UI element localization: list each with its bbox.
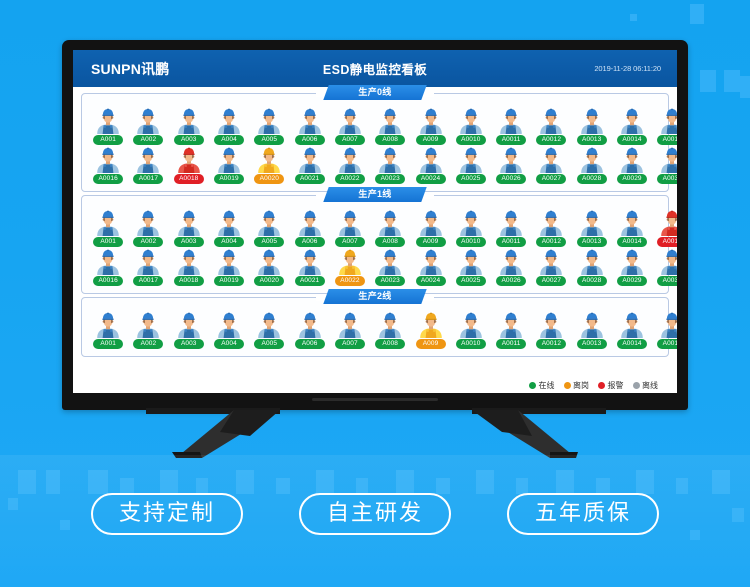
- worker-avatar-icon: [134, 147, 162, 173]
- worker-station[interactable]: A0027: [531, 249, 571, 286]
- worker-status-badge[interactable]: A009: [416, 237, 446, 247]
- pixel-square: [712, 470, 730, 494]
- production-line-box: 生产0线 A001 A002: [81, 93, 669, 192]
- feature-pills: 支持定制自主研发五年质保: [0, 493, 750, 535]
- worker-station[interactable]: A004: [209, 108, 249, 145]
- worker-status-badge[interactable]: A008: [375, 237, 405, 247]
- worker-station[interactable]: A004: [209, 210, 249, 247]
- worker-station[interactable]: A005: [249, 108, 289, 145]
- worker-status-badge[interactable]: A003: [174, 135, 204, 145]
- worker-avatar-icon: [457, 108, 485, 134]
- worker-station[interactable]: A0029: [612, 249, 652, 286]
- worker-avatar-icon: [134, 108, 162, 134]
- worker-station[interactable]: A0025: [451, 249, 491, 286]
- pixel-square: [516, 478, 528, 494]
- worker-status-badge[interactable]: A003: [174, 237, 204, 247]
- worker-status-badge[interactable]: A0028: [577, 276, 607, 286]
- worker-station[interactable]: A002: [128, 210, 168, 247]
- worker-avatar-icon: [658, 249, 677, 275]
- pixel-square: [636, 470, 654, 494]
- pixel-square: [236, 470, 254, 494]
- worker-station[interactable]: A0014: [612, 312, 652, 349]
- worker-avatar-icon: [255, 312, 283, 338]
- tv-leg-right: [470, 408, 610, 460]
- worker-avatar-icon: [296, 210, 324, 236]
- worker-avatar-icon: [94, 210, 122, 236]
- worker-avatar-icon: [255, 249, 283, 275]
- worker-status-badge[interactable]: A0018: [174, 174, 204, 184]
- worker-avatar-icon: [94, 312, 122, 338]
- worker-avatar-icon: [537, 108, 565, 134]
- worker-avatar-icon: [134, 210, 162, 236]
- worker-avatar-icon: [618, 249, 646, 275]
- worker-avatar-icon: [376, 312, 404, 338]
- worker-station[interactable]: A0016: [88, 147, 128, 184]
- timestamp: 2019-11-28 06:11:20: [594, 64, 677, 73]
- worker-station[interactable]: A006: [289, 312, 329, 349]
- worker-station[interactable]: A003: [169, 108, 209, 145]
- worker-avatar-icon: [537, 312, 565, 338]
- worker-status-badge[interactable]: A0019: [214, 174, 244, 184]
- production-line-panel: 生产0线 A001 A002: [81, 93, 669, 192]
- worker-avatar-icon: [94, 108, 122, 134]
- worker-row: A001 A002 A003: [86, 210, 664, 247]
- status-legend: 在线离岗报警离线: [526, 379, 661, 392]
- worker-status-badge[interactable]: A0011: [496, 339, 526, 349]
- worker-station[interactable]: A0013: [572, 210, 612, 247]
- worker-avatar-icon: [134, 312, 162, 338]
- worker-station[interactable]: A0010: [451, 312, 491, 349]
- worker-station[interactable]: A0011: [491, 210, 531, 247]
- worker-status-badge[interactable]: A009: [416, 339, 446, 349]
- worker-station[interactable]: A003: [169, 210, 209, 247]
- worker-avatar-icon: [94, 249, 122, 275]
- worker-avatar-icon: [497, 108, 525, 134]
- worker-avatar-icon: [497, 249, 525, 275]
- worker-status-badge[interactable]: A0015: [657, 237, 677, 247]
- worker-status-badge[interactable]: A007: [335, 237, 365, 247]
- production-line-tag: 生产2线: [323, 289, 426, 304]
- worker-avatar-icon: [618, 312, 646, 338]
- worker-station[interactable]: A005: [249, 312, 289, 349]
- worker-status-badge[interactable]: A005: [254, 237, 284, 247]
- pixel-square: [316, 470, 334, 494]
- worker-status-badge[interactable]: A001: [93, 237, 123, 247]
- worker-status-badge[interactable]: A0016: [93, 174, 123, 184]
- pixel-square: [556, 470, 574, 494]
- worker-avatar-icon: [578, 249, 606, 275]
- worker-status-badge[interactable]: A006: [295, 135, 325, 145]
- production-line-box: 生产1线 A001 A002: [81, 195, 669, 294]
- worker-avatar-icon: [336, 249, 364, 275]
- worker-station[interactable]: A0013: [572, 108, 612, 145]
- worker-avatar-icon: [215, 210, 243, 236]
- production-line-name: 生产1线: [326, 187, 424, 202]
- worker-status-badge[interactable]: A0010: [456, 135, 486, 145]
- pixel-square: [120, 478, 134, 494]
- worker-status-badge[interactable]: A005: [254, 339, 284, 349]
- worker-status-badge[interactable]: A0010: [456, 237, 486, 247]
- pixel-square: [396, 470, 414, 494]
- worker-status-badge[interactable]: A001: [93, 135, 123, 145]
- worker-avatar-icon: [618, 147, 646, 173]
- worker-status-badge[interactable]: A002: [133, 135, 163, 145]
- production-lines-container: 生产0线 A001 A002: [81, 93, 669, 357]
- worker-status-badge[interactable]: A0017: [133, 174, 163, 184]
- worker-status-badge[interactable]: A009: [416, 135, 446, 145]
- worker-status-badge[interactable]: A0016: [93, 276, 123, 286]
- worker-station[interactable]: A0023: [370, 249, 410, 286]
- worker-status-badge[interactable]: A0014: [617, 339, 647, 349]
- worker-row: A0016 A0017 A0018: [86, 249, 664, 286]
- worker-avatar-icon: [457, 312, 485, 338]
- production-line-box: 生产2线 A001 A002: [81, 297, 669, 357]
- worker-station[interactable]: A0024: [410, 147, 450, 184]
- worker-station[interactable]: A0018: [169, 147, 209, 184]
- worker-station[interactable]: A006: [289, 210, 329, 247]
- worker-station[interactable]: A008: [370, 210, 410, 247]
- pixel-square: [46, 470, 60, 494]
- worker-avatar-icon: [417, 108, 445, 134]
- worker-status-badge[interactable]: A002: [133, 339, 163, 349]
- worker-station[interactable]: A009: [410, 210, 450, 247]
- worker-status-badge[interactable]: A0022: [335, 276, 365, 286]
- worker-station[interactable]: A0026: [491, 249, 531, 286]
- worker-row: A001 A002 A003: [86, 312, 664, 349]
- worker-status-badge[interactable]: A0011: [496, 135, 526, 145]
- worker-avatar-icon: [175, 108, 203, 134]
- worker-status-badge[interactable]: A0014: [617, 237, 647, 247]
- worker-status-badge[interactable]: A0029: [617, 276, 647, 286]
- worker-status-badge[interactable]: A0023: [375, 174, 405, 184]
- worker-station[interactable]: A0024: [410, 249, 450, 286]
- worker-avatar-icon: [215, 249, 243, 275]
- worker-status-badge[interactable]: A0015: [657, 339, 677, 349]
- worker-avatar-icon: [658, 108, 677, 134]
- worker-row: A001 A002 A003: [86, 108, 664, 145]
- worker-avatar-icon: [658, 210, 677, 236]
- pixel-square: [676, 478, 688, 494]
- worker-station[interactable]: A0020: [249, 147, 289, 184]
- worker-station[interactable]: A003: [169, 312, 209, 349]
- worker-station[interactable]: A0011: [491, 108, 531, 145]
- worker-station[interactable]: A0019: [209, 147, 249, 184]
- worker-station[interactable]: A006: [289, 108, 329, 145]
- worker-avatar-icon: [255, 210, 283, 236]
- worker-avatar-icon: [417, 147, 445, 173]
- worker-status-badge[interactable]: A007: [335, 339, 365, 349]
- worker-avatar-icon: [417, 249, 445, 275]
- feature-pill[interactable]: 自主研发: [299, 493, 451, 535]
- worker-avatar-icon: [296, 249, 324, 275]
- production-line-panel: 生产2线 A001 A002: [81, 297, 669, 357]
- worker-status-badge[interactable]: A0028: [577, 174, 607, 184]
- worker-station[interactable]: A0014: [612, 210, 652, 247]
- worker-status-badge[interactable]: A0022: [335, 174, 365, 184]
- dashboard-header: SUNPN讯鹏 ESD静电监控看板 2019-11-28 06:11:20: [73, 50, 677, 87]
- worker-avatar-icon: [376, 210, 404, 236]
- worker-avatar-icon: [255, 108, 283, 134]
- worker-status-badge[interactable]: A0013: [577, 237, 607, 247]
- worker-station[interactable]: A0010: [451, 108, 491, 145]
- worker-station[interactable]: A009: [410, 312, 450, 349]
- worker-status-badge[interactable]: A0010: [456, 339, 486, 349]
- worker-status-badge[interactable]: A0027: [536, 276, 566, 286]
- worker-station[interactable]: A0020: [249, 249, 289, 286]
- worker-status-badge[interactable]: A0026: [496, 276, 526, 286]
- pixel-square: [690, 4, 704, 24]
- worker-status-badge[interactable]: A002: [133, 237, 163, 247]
- legend-label: 离岗: [573, 380, 589, 391]
- worker-station[interactable]: A0027: [531, 147, 571, 184]
- worker-avatar-icon: [537, 249, 565, 275]
- worker-status-badge[interactable]: A008: [375, 339, 405, 349]
- worker-station[interactable]: A001: [88, 108, 128, 145]
- tv-brand-strip: [312, 398, 437, 401]
- legend-label: 离线: [642, 380, 658, 391]
- worker-avatar-icon: [537, 210, 565, 236]
- worker-avatar-icon: [537, 147, 565, 173]
- worker-station[interactable]: A0018: [169, 249, 209, 286]
- worker-avatar-icon: [215, 108, 243, 134]
- worker-status-badge[interactable]: A001: [93, 339, 123, 349]
- worker-station[interactable]: A0021: [289, 147, 329, 184]
- esd-dashboard: SUNPN讯鹏 ESD静电监控看板 2019-11-28 06:11:20 SU…: [73, 50, 677, 393]
- worker-station[interactable]: A0014: [612, 108, 652, 145]
- worker-avatar-icon: [215, 312, 243, 338]
- worker-avatar-icon: [457, 147, 485, 173]
- worker-avatar-icon: [336, 312, 364, 338]
- production-line-tag: 生产0线: [323, 85, 426, 100]
- worker-avatar-icon: [497, 312, 525, 338]
- worker-avatar-icon: [255, 147, 283, 173]
- worker-station[interactable]: A001: [88, 210, 128, 247]
- worker-avatar-icon: [457, 210, 485, 236]
- worker-station[interactable]: A0022: [330, 147, 370, 184]
- worker-status-badge[interactable]: A007: [335, 135, 365, 145]
- worker-avatar-icon: [296, 312, 324, 338]
- worker-status-badge[interactable]: A0024: [416, 276, 446, 286]
- worker-status-badge[interactable]: A005: [254, 135, 284, 145]
- worker-station[interactable]: A004: [209, 312, 249, 349]
- worker-station[interactable]: A0010: [451, 210, 491, 247]
- worker-station[interactable]: A007: [330, 210, 370, 247]
- worker-row: A0016 A0017 A0018: [86, 147, 664, 184]
- pixel-square: [630, 14, 637, 21]
- worker-status-badge[interactable]: A0023: [375, 276, 405, 286]
- worker-station[interactable]: A0028: [572, 249, 612, 286]
- worker-avatar-icon: [658, 147, 677, 173]
- pixel-square: [740, 76, 750, 98]
- worker-station[interactable]: A0030: [652, 147, 677, 184]
- pixel-square: [18, 470, 36, 494]
- pixel-square: [700, 70, 716, 92]
- worker-station[interactable]: A001: [88, 312, 128, 349]
- worker-avatar-icon: [336, 147, 364, 173]
- production-line-panel: 生产1线 A001 A002: [81, 195, 669, 294]
- page-title: ESD静电监控看板: [73, 59, 677, 78]
- worker-avatar-icon: [134, 249, 162, 275]
- worker-status-badge[interactable]: A0030: [657, 174, 677, 184]
- worker-status-badge[interactable]: A0021: [295, 174, 325, 184]
- worker-status-badge[interactable]: A0012: [536, 339, 566, 349]
- worker-station[interactable]: A0012: [531, 312, 571, 349]
- worker-station[interactable]: A005: [249, 210, 289, 247]
- worker-status-badge[interactable]: A0014: [617, 135, 647, 145]
- worker-avatar-icon: [376, 108, 404, 134]
- worker-station[interactable]: A0015: [652, 108, 677, 145]
- worker-status-badge[interactable]: A004: [214, 339, 244, 349]
- pixel-square: [88, 470, 108, 494]
- tv-leg-left: [142, 408, 282, 460]
- pixel-square: [596, 478, 610, 494]
- worker-station[interactable]: A0012: [531, 210, 571, 247]
- worker-status-badge[interactable]: A0020: [254, 174, 284, 184]
- feature-pill[interactable]: 支持定制: [91, 493, 243, 535]
- dashboard-body: SUNPN讯鹏 生产0线 A001 A002: [73, 87, 677, 393]
- production-line-tag: 生产1线: [323, 187, 426, 202]
- worker-station[interactable]: A0017: [128, 147, 168, 184]
- worker-status-badge[interactable]: A0019: [214, 276, 244, 286]
- legend-label: 报警: [608, 380, 624, 391]
- worker-station[interactable]: A0021: [289, 249, 329, 286]
- worker-status-badge[interactable]: A0015: [657, 135, 677, 145]
- worker-station[interactable]: A0015: [652, 210, 677, 247]
- worker-status-badge[interactable]: A0029: [617, 174, 647, 184]
- worker-status-badge[interactable]: A0030: [657, 276, 677, 286]
- worker-status-badge[interactable]: A0011: [496, 237, 526, 247]
- worker-avatar-icon: [376, 147, 404, 173]
- worker-avatar-icon: [94, 147, 122, 173]
- worker-status-badge[interactable]: A0020: [254, 276, 284, 286]
- tv-display: SUNPN讯鹏 ESD静电监控看板 2019-11-28 06:11:20 SU…: [62, 40, 688, 410]
- worker-avatar-icon: [578, 312, 606, 338]
- worker-avatar-icon: [417, 210, 445, 236]
- legend-item: 离线: [633, 380, 659, 391]
- worker-status-badge[interactable]: A0025: [456, 174, 486, 184]
- worker-status-badge[interactable]: A0027: [536, 174, 566, 184]
- legend-label: 在线: [539, 380, 555, 391]
- production-line-name: 生产2线: [326, 289, 424, 304]
- pixel-square: [476, 470, 494, 494]
- worker-station[interactable]: A0019: [209, 249, 249, 286]
- worker-avatar-icon: [578, 147, 606, 173]
- legend-item: 报警: [598, 380, 624, 391]
- worker-station[interactable]: A0016: [88, 249, 128, 286]
- worker-avatar-icon: [376, 249, 404, 275]
- worker-station[interactable]: A0013: [572, 312, 612, 349]
- worker-station[interactable]: A0023: [370, 147, 410, 184]
- worker-avatar-icon: [336, 108, 364, 134]
- worker-station[interactable]: A007: [330, 312, 370, 349]
- worker-station[interactable]: A0030: [652, 249, 677, 286]
- worker-status-badge[interactable]: A003: [174, 339, 204, 349]
- worker-station[interactable]: A0025: [451, 147, 491, 184]
- pixel-square: [436, 478, 450, 494]
- status-dot-icon: [633, 382, 640, 389]
- worker-status-badge[interactable]: A006: [295, 237, 325, 247]
- worker-avatar-icon: [296, 108, 324, 134]
- worker-status-badge[interactable]: A0012: [536, 135, 566, 145]
- worker-status-badge[interactable]: A0018: [174, 276, 204, 286]
- production-line-name: 生产0线: [326, 85, 424, 100]
- worker-station[interactable]: A0029: [612, 147, 652, 184]
- worker-station[interactable]: A0022: [330, 249, 370, 286]
- worker-avatar-icon: [497, 210, 525, 236]
- tv-screen: SUNPN讯鹏 ESD静电监控看板 2019-11-28 06:11:20 SU…: [73, 50, 677, 393]
- worker-station[interactable]: A002: [128, 312, 168, 349]
- pixel-square: [356, 478, 368, 494]
- worker-status-badge[interactable]: A0025: [456, 276, 486, 286]
- status-dot-icon: [529, 382, 536, 389]
- worker-avatar-icon: [417, 312, 445, 338]
- worker-avatar-icon: [658, 312, 677, 338]
- pixel-square: [276, 478, 290, 494]
- worker-station[interactable]: A0012: [531, 108, 571, 145]
- worker-status-badge[interactable]: A0013: [577, 339, 607, 349]
- status-dot-icon: [564, 382, 571, 389]
- worker-status-badge[interactable]: A008: [375, 135, 405, 145]
- worker-status-badge[interactable]: A004: [214, 237, 244, 247]
- worker-avatar-icon: [578, 108, 606, 134]
- status-dot-icon: [598, 382, 605, 389]
- worker-avatar-icon: [175, 312, 203, 338]
- worker-avatar-icon: [618, 108, 646, 134]
- worker-status-badge[interactable]: A0021: [295, 276, 325, 286]
- worker-station[interactable]: A008: [370, 108, 410, 145]
- worker-station[interactable]: A0026: [491, 147, 531, 184]
- feature-pill[interactable]: 五年质保: [507, 493, 659, 535]
- worker-station[interactable]: A009: [410, 108, 450, 145]
- worker-status-badge[interactable]: A0017: [133, 276, 163, 286]
- worker-avatar-icon: [296, 147, 324, 173]
- worker-status-badge[interactable]: A004: [214, 135, 244, 145]
- worker-status-badge[interactable]: A006: [295, 339, 325, 349]
- worker-status-badge[interactable]: A0012: [536, 237, 566, 247]
- worker-avatar-icon: [175, 147, 203, 173]
- worker-avatar-icon: [175, 249, 203, 275]
- worker-avatar-icon: [497, 147, 525, 173]
- pixel-square: [724, 70, 740, 92]
- worker-station[interactable]: A0011: [491, 312, 531, 349]
- worker-status-badge[interactable]: A0026: [496, 174, 526, 184]
- worker-station[interactable]: A002: [128, 108, 168, 145]
- worker-avatar-icon: [457, 249, 485, 275]
- legend-item: 离岗: [564, 380, 590, 391]
- worker-status-badge[interactable]: A0024: [416, 174, 446, 184]
- worker-avatar-icon: [618, 210, 646, 236]
- legend-item: 在线: [529, 380, 555, 391]
- worker-status-badge[interactable]: A0013: [577, 135, 607, 145]
- worker-station[interactable]: A0017: [128, 249, 168, 286]
- worker-avatar-icon: [336, 210, 364, 236]
- worker-station[interactable]: A007: [330, 108, 370, 145]
- pixel-square: [196, 478, 208, 494]
- worker-avatar-icon: [578, 210, 606, 236]
- worker-station[interactable]: A008: [370, 312, 410, 349]
- worker-station[interactable]: A0015: [652, 312, 677, 349]
- worker-avatar-icon: [215, 147, 243, 173]
- worker-avatar-icon: [175, 210, 203, 236]
- worker-station[interactable]: A0028: [572, 147, 612, 184]
- pixel-square: [160, 470, 178, 494]
